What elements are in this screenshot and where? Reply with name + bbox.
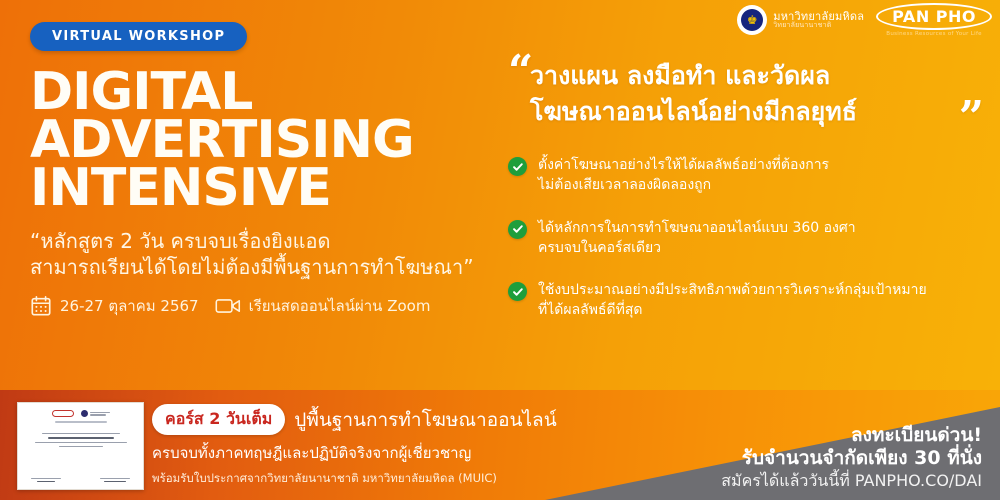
mahidol-seal-icon: ♚ <box>737 5 767 35</box>
check-mark <box>512 223 524 235</box>
check-circle-icon <box>508 282 527 301</box>
list-item: ใช้งบประมาณอย่างมีประสิทธิภาพด้วยการวิเค… <box>508 280 978 321</box>
certificate-signatures <box>27 478 134 483</box>
certificate-line <box>35 442 127 444</box>
course-title: ปูพื้นฐานการทำโฆษณาออนไลน์ <box>294 405 556 435</box>
mahidol-sub: วิทยาลัยนานาชาติ <box>773 22 864 29</box>
certificate-thumbnail <box>17 402 144 490</box>
bullet-2-line-1: ได้หลักการในการทำโฆษณาออนไลน์แบบ 360 องศ… <box>538 218 856 238</box>
right-quote-line-2: โฆษณาออนไลน์อย่างมีกลยุทธ์ <box>530 94 978 130</box>
benefits-list: ตั้งค่าโฆษณาอย่างไรให้ได้ผลลัพธ์อย่างที่… <box>508 155 978 321</box>
course-duration-badge: คอร์ส 2 วันเต็ม <box>152 404 285 435</box>
cta-register-url[interactable]: สมัครได้แล้ววันนี้ที่ PANPHO.CO/DAI <box>721 471 982 492</box>
check-circle-icon <box>508 220 527 239</box>
certificate-signature <box>96 478 134 483</box>
certificate-muic-logo-icon <box>81 410 110 417</box>
certificate-line <box>100 478 130 480</box>
quote-open-mark: “ <box>508 50 533 94</box>
event-date-label: 26-27 ตุลาคม 2567 <box>60 294 199 318</box>
mahidol-seal-inner: ♚ <box>741 9 763 31</box>
list-item-text: ตั้งค่าโฆษณาอย่างไรให้ได้ผลลัพธ์อย่างที่… <box>538 155 829 196</box>
check-mark <box>512 161 524 173</box>
certificate-header <box>27 410 134 417</box>
certificate-line <box>90 414 106 416</box>
bullet-1-line-1: ตั้งค่าโฆษณาอย่างไรให้ได้ผลลัพธ์อย่างที่… <box>538 155 829 175</box>
panpho-logo: PAN PHO Business Resources of Your Life <box>876 3 992 37</box>
mahidol-logo-text: มหาวิทยาลัยมหิดล วิทยาลัยนานาชาติ <box>773 11 864 30</box>
certificate-muic-lines <box>90 412 110 416</box>
certificate-line <box>31 478 61 480</box>
left-quote-line-1: “หลักสูตร 2 วัน ครบจบเรื่องยิงแอด <box>30 228 500 254</box>
video-camera-icon <box>215 296 241 316</box>
certificate-line <box>42 433 120 435</box>
event-platform-label: เรียนสดออนไลน์ผ่าน Zoom <box>249 294 431 318</box>
certificate-signature <box>27 478 65 483</box>
course-details: คอร์ส 2 วันเต็ม ปูพื้นฐานการทำโฆษณาออนไล… <box>152 404 552 488</box>
list-item-text: ใช้งบประมาณอย่างมีประสิทธิภาพด้วยการวิเค… <box>538 280 927 321</box>
event-platform-item: เรียนสดออนไลน์ผ่าน Zoom <box>215 294 431 318</box>
certificate-line <box>37 481 55 483</box>
mahidol-university-logo: ♚ มหาวิทยาลัยมหิดล วิทยาลัยนานาชาติ <box>737 5 864 35</box>
list-item: ได้หลักการในการทำโฆษณาออนไลน์แบบ 360 องศ… <box>508 218 978 259</box>
headline-line-3: INTENSIVE <box>30 165 500 213</box>
course-title-row: คอร์ส 2 วันเต็ม ปูพื้นฐานการทำโฆษณาออนไล… <box>152 404 552 435</box>
check-mark <box>512 286 524 298</box>
bullet-2-line-2: ครบจบในคอร์สเดียว <box>538 238 856 258</box>
certificate-body <box>27 421 134 447</box>
left-column: VIRTUAL WORKSHOP DIGITAL ADVERTISING INT… <box>30 22 500 318</box>
certificate-line <box>90 412 110 414</box>
bullet-3-line-2: ที่ได้ผลลัพธ์ดีที่สุด <box>538 300 927 320</box>
panpho-name: PAN PHO <box>876 3 992 30</box>
list-item: ตั้งค่าโฆษณาอย่างไรให้ได้ผลลัพธ์อย่างที่… <box>508 155 978 196</box>
logo-bar: ♚ มหาวิทยาลัยมหิดล วิทยาลัยนานาชาติ PAN … <box>737 3 992 37</box>
page-title: DIGITAL ADVERTISING INTENSIVE <box>30 69 500 212</box>
right-column: “ วางแผน ลงมือทำ และวัดผล โฆษณาออนไลน์อย… <box>508 58 978 321</box>
certificate-line <box>104 481 126 483</box>
virtual-workshop-badge: VIRTUAL WORKSHOP <box>30 22 247 51</box>
bullet-3-line-1: ใช้งบประมาณอย่างมีประสิทธิภาพด้วยการวิเค… <box>538 280 927 300</box>
right-quote-line-1: วางแผน ลงมือทำ และวัดผล <box>530 58 978 94</box>
certificate-line <box>59 446 103 448</box>
event-date-item: 26-27 ตุลาคม 2567 <box>30 294 199 318</box>
left-quote-line-2: สามารถเรียนได้โดยไม่ต้องมีพื้นฐานการทำโฆ… <box>30 254 500 280</box>
bottom-bar: คอร์ส 2 วันเต็ม ปูพื้นฐานการทำโฆษณาออนไล… <box>0 390 1000 500</box>
bullet-1-line-2: ไม่ต้องเสียเวลาลองผิดลองถูก <box>538 175 829 195</box>
registration-cta: ลงทะเบียนด่วน! รับจำนวนจำกัดเพียง 30 ที่… <box>721 424 982 492</box>
cta-line-1: ลงทะเบียนด่วน! <box>721 424 982 448</box>
certificate-line <box>55 421 107 423</box>
promo-banner: ♚ มหาวิทยาลัยมหิดล วิทยาลัยนานาชาติ PAN … <box>0 0 1000 500</box>
panpho-tagline: Business Resources of Your Life <box>886 31 982 37</box>
right-headline-quote: “ วางแผน ลงมือทำ และวัดผล โฆษณาออนไลน์อย… <box>508 58 978 129</box>
check-circle-icon <box>508 157 527 176</box>
quote-close-mark: ” <box>959 96 984 140</box>
cta-line-2: รับจำนวนจำกัดเพียง 30 ที่นั่ง <box>721 447 982 471</box>
course-subtitle-1: ครบจบทั้งภาคทฤษฎีและปฏิบัติจริงจากผู้เชี… <box>152 441 552 465</box>
course-subtitle-2: พร้อมรับใบประกาศจากวิทยาลัยนานาชาติ มหาว… <box>152 470 552 488</box>
list-item-text: ได้หลักการในการทำโฆษณาออนไลน์แบบ 360 องศ… <box>538 218 856 259</box>
certificate-line <box>48 437 114 440</box>
event-meta-row: 26-27 ตุลาคม 2567 เรียนสดออนไลน์ผ่าน Zoo… <box>30 294 500 318</box>
calendar-icon <box>30 295 52 317</box>
certificate-panpho-logo-icon <box>52 410 74 417</box>
left-subtitle-quote: “หลักสูตร 2 วัน ครบจบเรื่องยิงแอด สามารถ… <box>30 228 500 280</box>
certificate-seal-icon <box>81 410 88 417</box>
